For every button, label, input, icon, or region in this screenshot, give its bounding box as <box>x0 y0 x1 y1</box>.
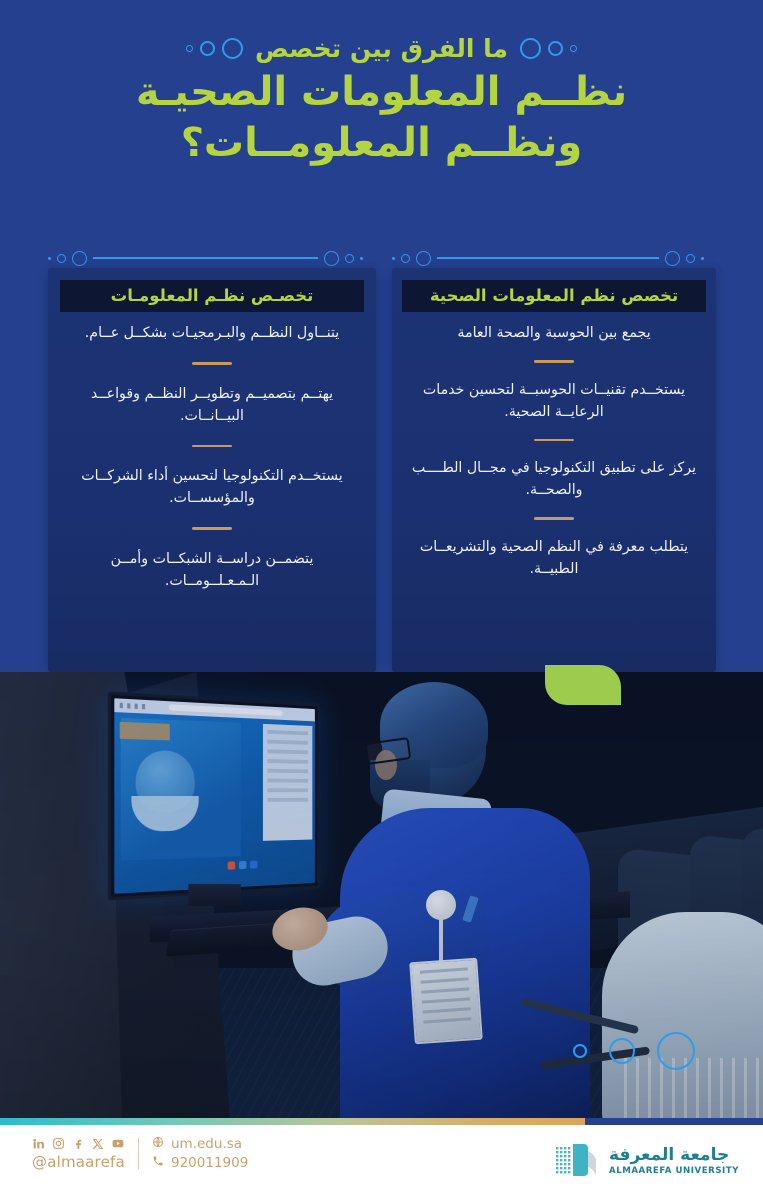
list-item: يتطلب معرفة في النظم الصحية والتشريعــات… <box>410 536 698 580</box>
list-separator <box>534 360 574 363</box>
footer: @almaarefa um.edu.sa 920011909 <box>0 1125 763 1200</box>
card-body: يتنــاول النظــم والبـرمجيـات بشكــل عــ… <box>48 312 376 602</box>
kicker-dots-left <box>520 38 577 59</box>
list-item: يركز على تطبيق التكنولوجيا في مجــال الط… <box>410 457 698 501</box>
photo-badge-strap <box>439 916 443 966</box>
kicker-text: ما الفرق بين تخصص <box>255 34 508 63</box>
logo-english-name: ALMAAREFA UNIVERSITY <box>609 1167 739 1176</box>
facebook-icon[interactable] <box>72 1137 85 1150</box>
instagram-icon[interactable] <box>52 1137 65 1150</box>
phone-row[interactable]: 920011909 <box>152 1155 248 1171</box>
website-text: um.edu.sa <box>171 1136 242 1152</box>
card-health-information-systems: تخصص نظم المعلومات الصحية يجمع بين الحوس… <box>392 268 716 672</box>
decor-divider-left <box>48 248 363 268</box>
list-separator <box>192 445 232 448</box>
card-header-information-systems: تخصـص نظـم المعلومـات <box>60 280 364 312</box>
heading-block: ما الفرق بين تخصص نظــم المعلومات الصحيـ… <box>0 34 763 169</box>
youtube-icon[interactable] <box>111 1137 125 1150</box>
photo-person <box>330 682 610 1118</box>
list-item: يستخــدم تقنيــات الحوسبــة لتحسين خدمات… <box>410 379 698 423</box>
footer-accent-bar <box>0 1118 585 1125</box>
decor-rings-bottom-right <box>573 1032 695 1070</box>
website-row[interactable]: um.edu.sa <box>152 1136 248 1152</box>
photo-monitor-stand <box>188 884 240 906</box>
footer-divider <box>138 1138 139 1169</box>
university-logo[interactable]: جامعة المعرفة ALMAAREFA UNIVERSITY <box>554 1141 739 1181</box>
headline-line-1: نظــم المعلومات الصحيـة <box>0 67 763 118</box>
poster-root: ما الفرق بين تخصص نظــم المعلومات الصحيـ… <box>0 0 763 1200</box>
footer-contact-block: @almaarefa um.edu.sa 920011909 <box>32 1136 248 1171</box>
list-item: يجمع بين الحوسبة والصحة العامة <box>410 322 698 344</box>
card-title: تخصـص نظـم المعلومـات <box>68 286 356 305</box>
decor-divider-right <box>392 248 704 268</box>
logo-arabic-name: جامعة المعرفة <box>609 1147 729 1164</box>
list-item: يستخــدم التكنولوجيا لتحسين أداء الشركــ… <box>66 465 358 509</box>
social-handle: @almaarefa <box>32 1153 125 1171</box>
phone-text: 920011909 <box>171 1155 248 1171</box>
globe-icon <box>152 1136 164 1152</box>
list-item: يتضمــن دراســة الشبكــات وأمــن الـمـعـ… <box>66 548 358 592</box>
x-icon[interactable] <box>92 1138 104 1150</box>
social-icon-row <box>32 1136 125 1151</box>
kicker-row: ما الفرق بين تخصص <box>0 34 763 63</box>
list-separator <box>192 527 232 530</box>
headline-line-2: ونظــم المعلومــات؟ <box>0 118 763 169</box>
list-separator <box>534 439 574 442</box>
phone-icon <box>152 1155 164 1171</box>
list-separator <box>534 517 574 520</box>
decor-divider-row <box>0 248 763 268</box>
list-item: يهتــم بتصميــم وتطويــر النظــم وقواعــ… <box>66 383 358 427</box>
kicker-dots-right <box>186 38 243 59</box>
book-logo-icon <box>554 1141 600 1181</box>
card-header-health-information-systems: تخصص نظم المعلومات الصحية <box>402 280 706 312</box>
card-body: يجمع بين الحوسبة والصحة العامة يستخــدم … <box>392 312 716 590</box>
photo-monitor-screen <box>114 698 315 893</box>
photo-chair <box>602 912 763 1118</box>
card-information-systems: تخصـص نظـم المعلومـات يتنــاول النظــم و… <box>48 268 376 672</box>
linkedin-icon[interactable] <box>32 1137 45 1150</box>
photo-monitor <box>108 692 320 901</box>
list-separator <box>192 362 232 365</box>
list-item: يتنــاول النظــم والبـرمجيـات بشكــل عــ… <box>66 322 358 344</box>
photo-id-badge <box>409 958 483 1045</box>
card-title: تخصص نظم المعلومات الصحية <box>410 286 698 305</box>
leaf-icon <box>545 665 621 705</box>
